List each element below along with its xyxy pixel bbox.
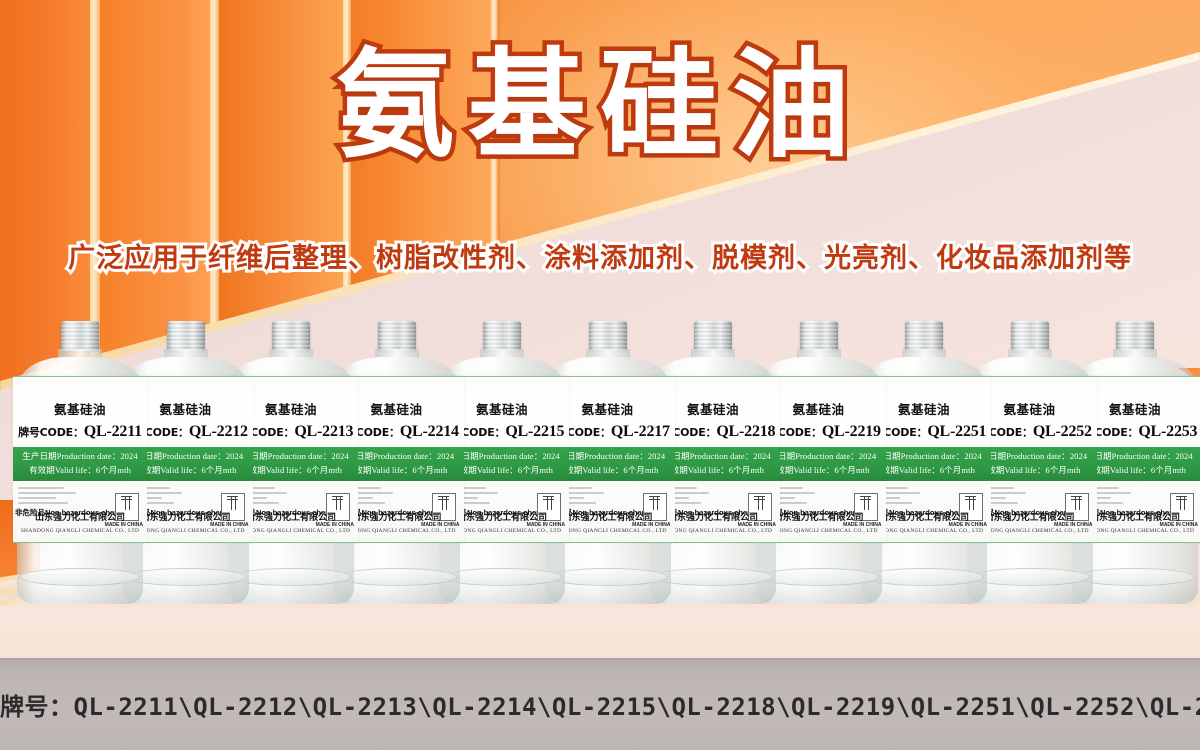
- footer-top-border: [0, 658, 1200, 660]
- label-code-value: QL-2215: [505, 423, 564, 440]
- label-company-en: SHANDONG QIANGLI CHEMICAL CO., LTD: [13, 528, 147, 534]
- bottle-cap: [905, 321, 943, 351]
- label-production-date: 生产日期Production date：2024: [13, 450, 147, 462]
- bottle-cap: [1116, 321, 1154, 351]
- label-code-value: QL-2219: [822, 423, 881, 440]
- label-code-value: QL-2253: [1138, 423, 1197, 440]
- product-bottle-row: 氨基硅油牌号CODE：QL-2211生产日期Production date：20…: [0, 300, 1200, 630]
- bottle-cap: [61, 321, 99, 351]
- product-bottle: 氨基硅油牌号CODE：QL-2211生产日期Production date：20…: [14, 300, 146, 630]
- label-company-cn: 山东强力化工有限公司: [13, 510, 147, 523]
- label-code-prefix: 牌号CODE：: [18, 426, 84, 439]
- label-code-value: QL-2218: [716, 423, 775, 440]
- poster-canvas: 氨基硅油 广泛应用于纤维后整理、树脂改性剂、涂料添加剂、脱模剂、光亮剂、化妆品添…: [0, 0, 1200, 750]
- label-product-name: 氨基硅油: [13, 399, 147, 418]
- bottle-cap: [1011, 321, 1049, 351]
- label-fineprint: [18, 487, 102, 507]
- label-code-value: QL-2211: [84, 423, 142, 440]
- label-code-value: QL-2251: [927, 423, 986, 440]
- bottle-cap: [694, 321, 732, 351]
- label-code-value: QL-2252: [1033, 423, 1092, 440]
- bottle-cap: [167, 321, 205, 351]
- footer-bar: 牌号：QL-2211\QL-2212\QL-2213\QL-2214\QL-22…: [0, 658, 1200, 750]
- label-code-value: QL-2212: [189, 423, 248, 440]
- bottle-cap: [378, 321, 416, 351]
- label-code-value: QL-2214: [400, 423, 459, 440]
- bottle-cap: [800, 321, 838, 351]
- label-valid-life: 有效期Valid life：6个月mth: [13, 464, 147, 476]
- label-green-band: 生产日期Production date：2024有效期Valid life：6个…: [13, 447, 147, 481]
- label-code-value: QL-2217: [611, 423, 670, 440]
- page-subtitle: 广泛应用于纤维后整理、树脂改性剂、涂料添加剂、脱模剂、光亮剂、化妆品添加剂等: [0, 236, 1200, 275]
- bottle-cap: [483, 321, 521, 351]
- label-code: 牌号CODE：QL-2211: [13, 423, 147, 441]
- page-title: 氨基硅油: [0, 46, 1200, 164]
- bottle-cap: [272, 321, 310, 351]
- bottle-base: [20, 568, 140, 586]
- label-code-value: QL-2213: [294, 423, 353, 440]
- bottle-cap: [589, 321, 627, 351]
- footer-codes-text: 牌号：QL-2211\QL-2212\QL-2213\QL-2214\QL-22…: [0, 687, 1200, 722]
- bottle-label: 氨基硅油牌号CODE：QL-2211生产日期Production date：20…: [13, 376, 147, 543]
